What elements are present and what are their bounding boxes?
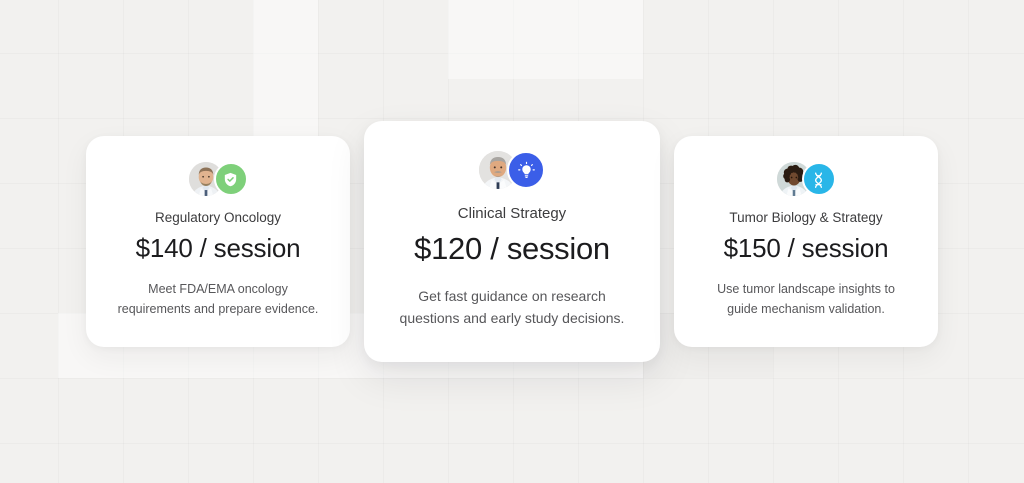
card-title: Clinical Strategy [458, 204, 566, 224]
card-price: $140 / session [136, 232, 301, 265]
avatar-cluster [189, 162, 248, 196]
card-title: Tumor Biology & Strategy [729, 209, 882, 227]
lightbulb-icon [507, 151, 545, 189]
pricing-card-tumor-biology-strategy[interactable]: Tumor Biology & Strategy $150 / session … [674, 136, 938, 347]
card-title: Regulatory Oncology [155, 209, 281, 227]
pricing-card-regulatory-oncology[interactable]: Regulatory Oncology $140 / session Meet … [86, 136, 350, 347]
avatar-cluster [777, 162, 836, 196]
pricing-cards-row: Regulatory Oncology $140 / session Meet … [0, 0, 1024, 483]
card-description: Meet FDA/EMA oncology requirements and p… [116, 280, 321, 319]
card-description: Get fast guidance on research questions … [391, 286, 633, 329]
shield-check-icon [214, 162, 248, 196]
card-price: $150 / session [724, 232, 889, 265]
dna-helix-icon [802, 162, 836, 196]
pricing-card-clinical-strategy[interactable]: Clinical Strategy $120 / session Get fas… [364, 121, 660, 362]
card-description: Use tumor landscape insights to guide me… [704, 280, 909, 319]
card-price: $120 / session [414, 230, 610, 269]
avatar-cluster [479, 151, 545, 189]
